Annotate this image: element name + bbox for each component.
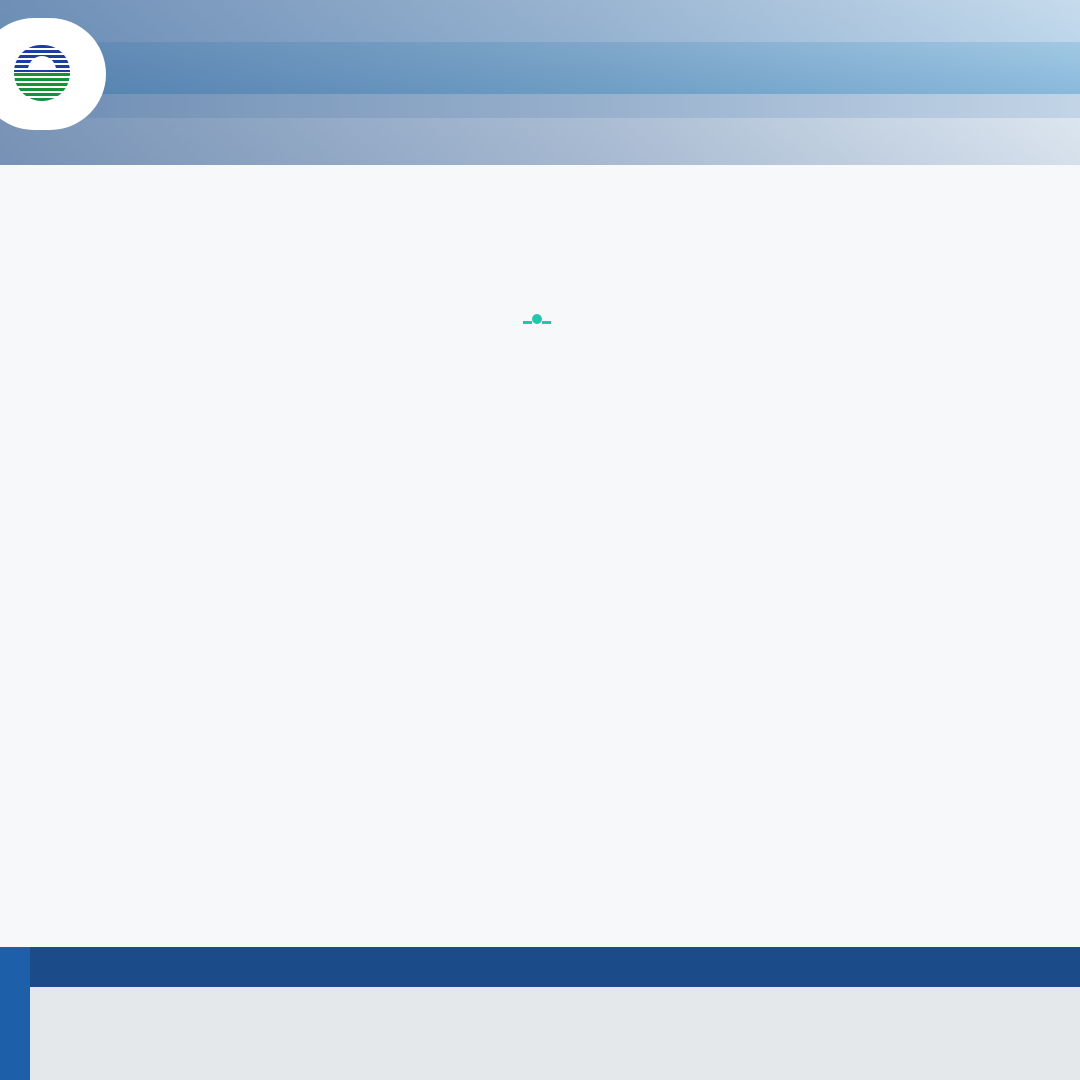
chart-legend bbox=[0, 312, 1080, 327]
sst-chart-svg bbox=[22, 198, 1058, 308]
legend-caption-bar bbox=[30, 947, 1080, 987]
header-tint-overlay bbox=[0, 0, 1080, 165]
page-header bbox=[0, 0, 1080, 165]
legend-side-bar bbox=[0, 947, 30, 1080]
legend-icons-row bbox=[30, 987, 1080, 1080]
legend-section bbox=[0, 947, 1080, 1080]
chart-legend-marker bbox=[523, 312, 551, 327]
daily-forecast-panels bbox=[0, 327, 1080, 333]
sst-chart bbox=[22, 198, 1058, 308]
header-text-block bbox=[108, 30, 1068, 39]
bmkg-logo-mark bbox=[14, 45, 70, 101]
